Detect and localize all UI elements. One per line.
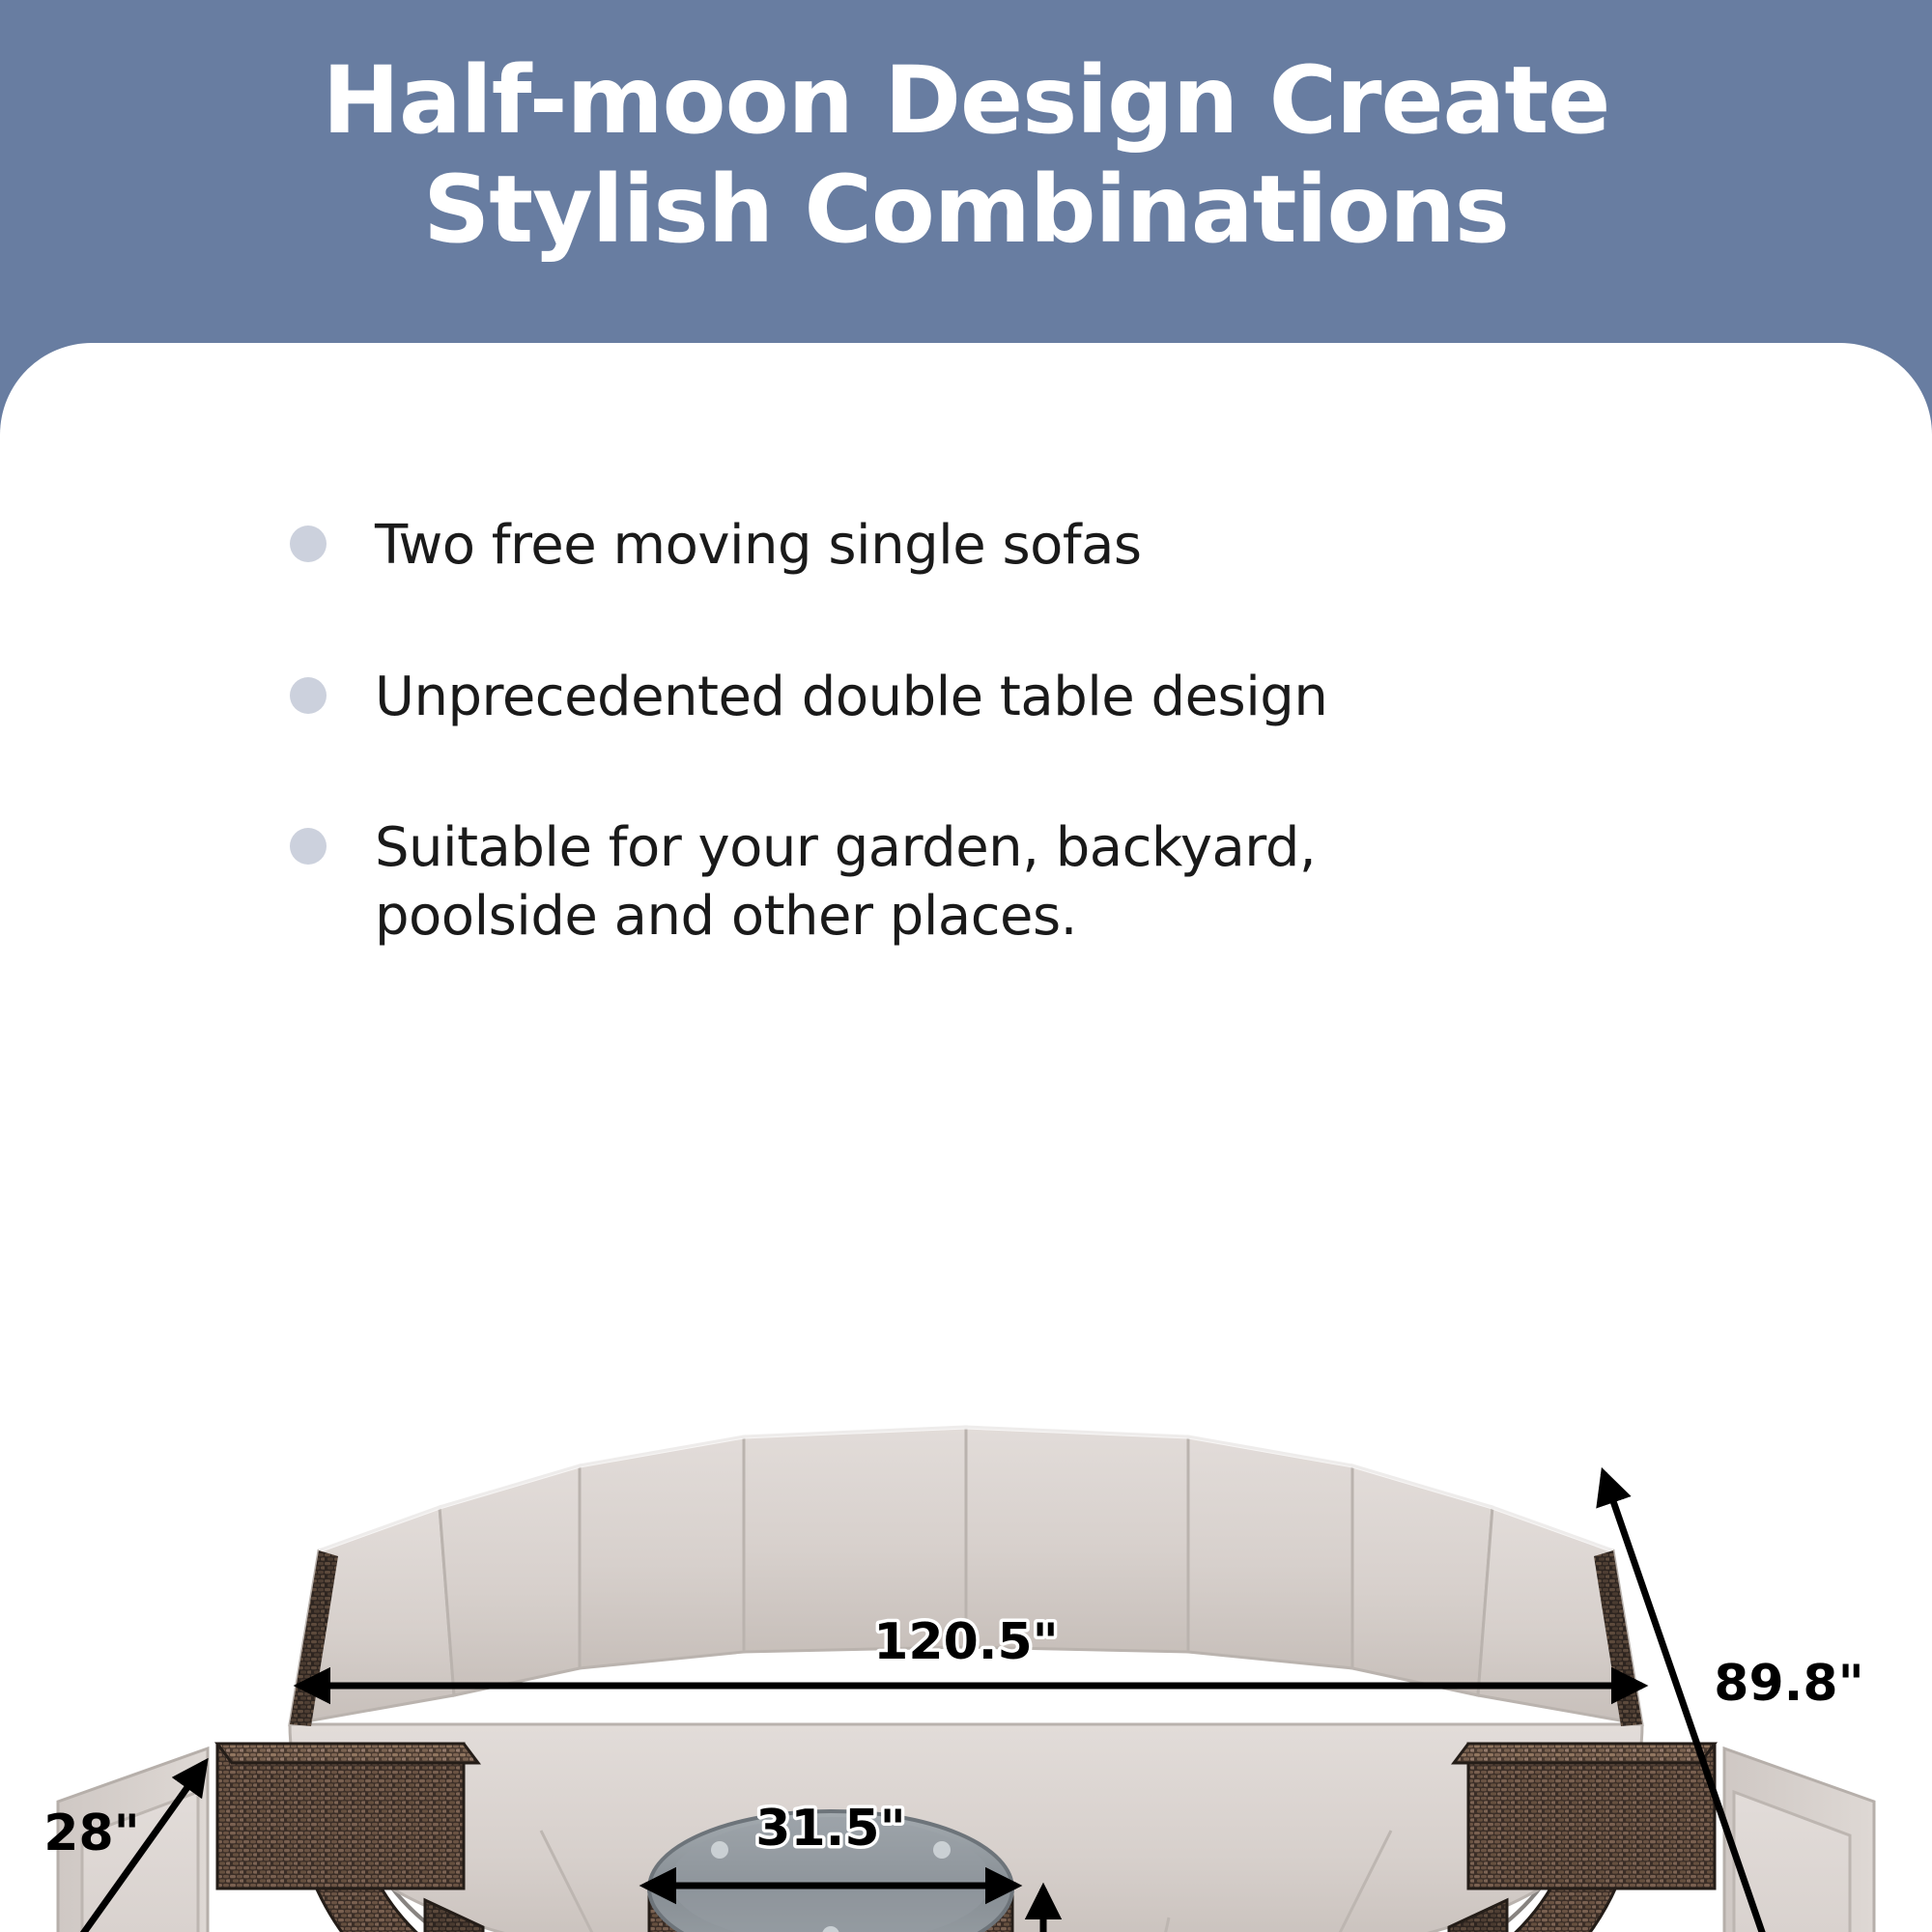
dimension-label: 31.5": [755, 1800, 905, 1858]
dimension-label: 89.8": [1714, 1655, 1863, 1713]
feature-text: Suitable for your garden, backyard, pool…: [375, 814, 1515, 951]
list-item: Two free moving single sofas: [290, 512, 1739, 581]
header-band: Half-moon Design Create Stylish Combinat…: [0, 0, 1932, 348]
list-item: Suitable for your garden, backyard, pool…: [290, 814, 1739, 951]
infographic-page: Half-moon Design Create Stylish Combinat…: [0, 0, 1932, 1932]
dimension-label: 28": [43, 1804, 139, 1862]
feature-text: Unprecedented double table design: [375, 664, 1327, 732]
bullet-icon: [290, 677, 327, 714]
list-item: Unprecedented double table design: [290, 664, 1739, 732]
page-title: Half-moon Design Create Stylish Combinat…: [0, 46, 1932, 266]
feature-text: Two free moving single sofas: [375, 512, 1142, 581]
bullet-icon: [290, 828, 327, 865]
dimension-label: 120.5": [873, 1613, 1059, 1671]
content-card: Two free moving single sofas Unprecedent…: [0, 343, 1932, 1932]
bullet-icon: [290, 526, 327, 562]
product-image: 120.5" 89.8" 28" 26": [0, 1309, 1932, 1932]
feature-list: Two free moving single sofas Unprecedent…: [290, 512, 1739, 1034]
